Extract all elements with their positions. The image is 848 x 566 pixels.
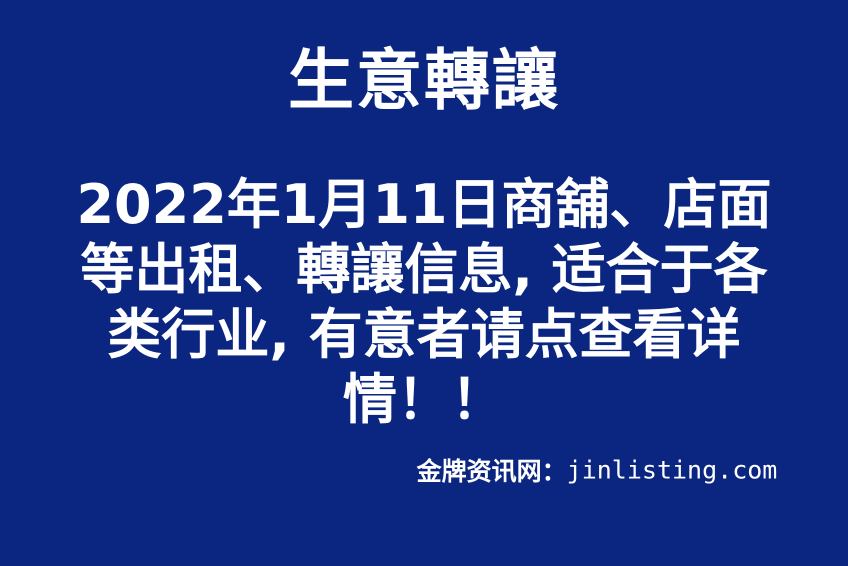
body-line-3: 类行业, 有意者请点查看详	[0, 302, 848, 367]
footer-brand-label: 金牌资讯网：	[417, 457, 567, 486]
poster-canvas: 生意轉讓 2022年1月11日商舖、店面 等出租、轉讓信息, 适合于各 类行业,…	[0, 0, 848, 566]
footer-watermark: 金牌资讯网：jinlisting.com	[0, 452, 848, 488]
body-text-block: 2022年1月11日商舖、店面 等出租、轉讓信息, 适合于各 类行业, 有意者请…	[0, 172, 848, 432]
footer-website-url: jinlisting.com	[567, 456, 778, 485]
body-line-4: 情！！	[0, 367, 848, 432]
body-line-2: 等出租、轉讓信息, 适合于各	[0, 237, 848, 302]
footer-inner: 金牌资讯网：jinlisting.com	[417, 452, 778, 488]
page-title: 生意轉讓	[0, 44, 848, 118]
body-line-1: 2022年1月11日商舖、店面	[0, 172, 848, 237]
